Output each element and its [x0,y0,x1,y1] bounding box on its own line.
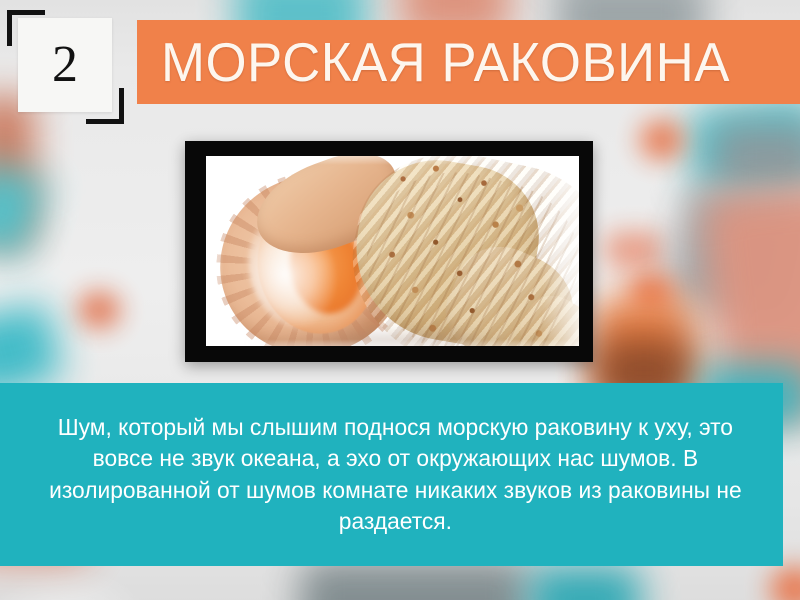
slide-number-badge: 2 [0,0,135,130]
caption-panel: Шум, который мы слышим поднося морскую р… [0,383,783,566]
slide-number-square: 2 [18,18,112,112]
photo-frame [185,141,593,362]
presentation-slide: МОРСКАЯ РАКОВИНА 2 [0,0,800,600]
slide-title: МОРСКАЯ РАКОВИНА [161,35,730,90]
caption-text: Шум, который мы слышим поднося морскую р… [12,412,772,537]
background-blob-teal-bottom [530,566,640,600]
shell-photo [206,156,579,346]
title-bar: МОРСКАЯ РАКОВИНА [137,20,800,104]
background-blob-orange-dot-left [78,292,120,328]
background-blob-gray-right [712,122,800,192]
shell-photo-vignette [206,156,579,346]
background-blob-orange-dot-right [640,120,684,160]
shell-illustration [206,156,579,346]
slide-number-value: 2 [52,39,78,91]
background-blob-gray-bottom [300,560,530,600]
background-blob-salmon-small-right [606,232,664,268]
